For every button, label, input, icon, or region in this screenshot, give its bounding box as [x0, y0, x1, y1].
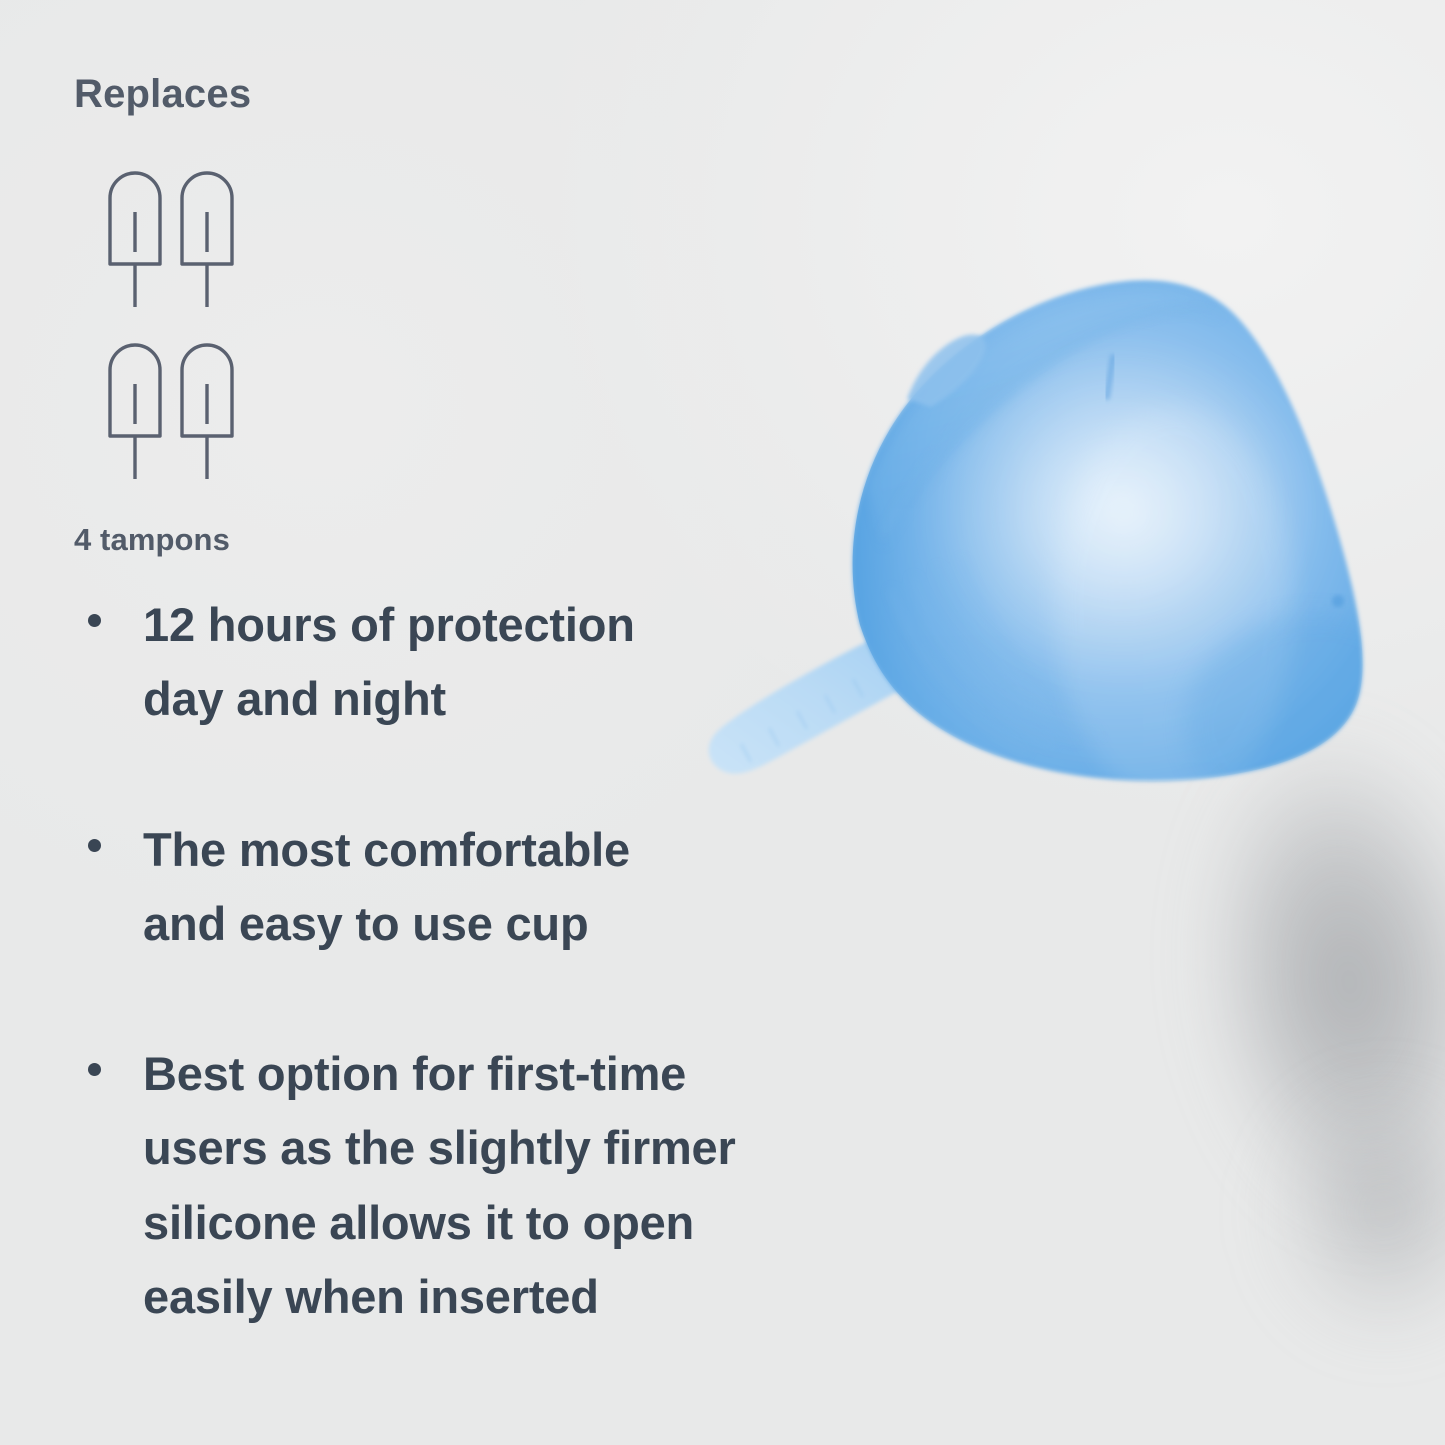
moulding-mark [1332, 595, 1344, 607]
bullet-dot-icon [88, 614, 101, 627]
feature-bullet-list: 12 hours of protection day and night The… [74, 588, 864, 1334]
bullet-text: The most comfortable and easy to use cup [143, 813, 864, 962]
bullet-text: 12 hours of protection day and night [143, 588, 864, 737]
bullet-dot-icon [88, 839, 101, 852]
list-item: The most comfortable and easy to use cup [74, 813, 864, 962]
list-item: 12 hours of protection day and night [74, 588, 864, 737]
tampon-count-label: 4 tampons [74, 522, 230, 558]
tampon-icon [104, 340, 166, 480]
cup-body [835, 265, 1445, 805]
tampon-icon-grid [104, 168, 284, 468]
tampon-icon [176, 340, 238, 480]
tampon-icon [176, 168, 238, 308]
list-item: Best option for first-time users as the … [74, 1037, 864, 1334]
tampon-icon [104, 168, 166, 308]
shadow-blob-secondary [1250, 1080, 1445, 1410]
bullet-dot-icon [88, 1063, 101, 1076]
air-hole-mark [1107, 357, 1113, 397]
bullet-text: Best option for first-time users as the … [143, 1037, 864, 1334]
product-infographic: Replaces [0, 0, 1445, 1445]
shadow-blob [1147, 668, 1445, 1352]
replaces-heading: Replaces [74, 72, 251, 117]
